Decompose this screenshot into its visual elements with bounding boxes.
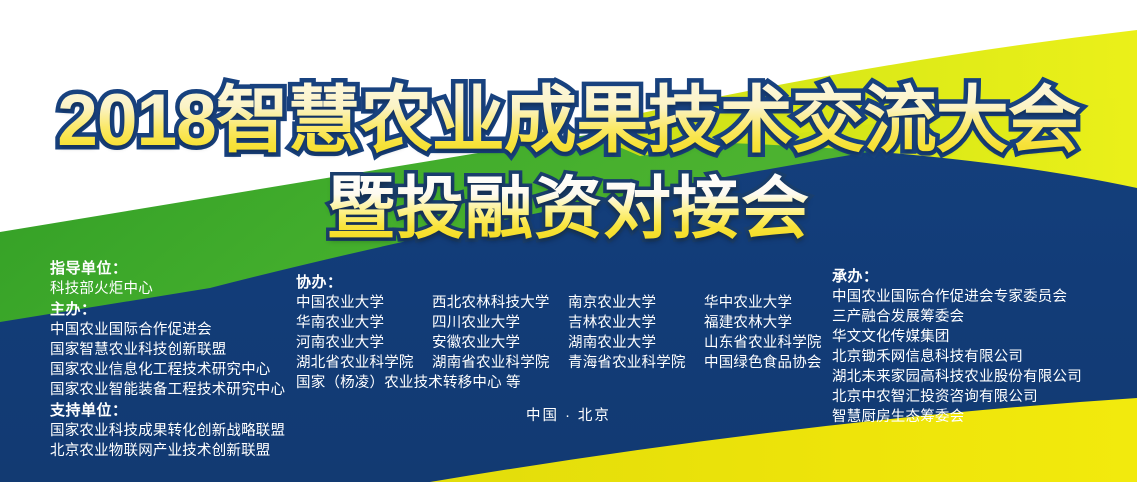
organizer-item: 湖北未来家园高科技农业股份有限公司 bbox=[832, 367, 1132, 387]
coorganizer-item: 湖南农业大学 bbox=[568, 333, 704, 353]
coorganizer-item: 南京农业大学 bbox=[568, 293, 704, 313]
coorganizer-item: 四川农业大学 bbox=[432, 313, 568, 333]
coorganizer-item: 华中农业大学 bbox=[704, 293, 840, 313]
organizer-heading: 承办： bbox=[832, 266, 1132, 287]
coorganizer-heading: 协办： bbox=[296, 272, 816, 293]
coorganizer-item: 福建农林大学 bbox=[704, 313, 840, 333]
coorganizer-item: 安徽农业大学 bbox=[432, 333, 568, 353]
credits-column-coorganizer: 协办： 中国农业大学 西北农林科技大学 南京农业大学 华中农业大学 华南农业大学… bbox=[296, 272, 816, 393]
organizer-item: 三产融合发展筹委会 bbox=[832, 307, 1132, 327]
coorganizer-item: 华南农业大学 bbox=[296, 313, 432, 333]
coorganizer-item: 青海省农业科学院 bbox=[568, 353, 704, 373]
sub-title: 暨投融资对接会 bbox=[0, 172, 1137, 246]
coorganizer-item: 国家（杨凌）农业技术转移中心 等 bbox=[296, 373, 816, 393]
organizer-item: 中国农业国际合作促进会专家委员会 bbox=[832, 287, 1132, 307]
coorganizer-item: 中国农业大学 bbox=[296, 293, 432, 313]
coorganizer-item: 山东省农业科学院 bbox=[704, 333, 840, 353]
credits-column-organizer: 承办： 中国农业国际合作促进会专家委员会 三产融合发展筹委会 华文文化传媒集团 … bbox=[832, 266, 1132, 427]
coorganizer-item: 中国绿色食品协会 bbox=[704, 353, 840, 373]
support-item: 北京农业物联网产业技术创新联盟 bbox=[50, 441, 350, 461]
coorganizer-item: 湖北省农业科学院 bbox=[296, 353, 432, 373]
coorganizer-item: 西北农林科技大学 bbox=[432, 293, 568, 313]
coorganizer-item: 河南农业大学 bbox=[296, 333, 432, 353]
coorganizer-item: 湖南省农业科学院 bbox=[432, 353, 568, 373]
coorganizer-item: 吉林农业大学 bbox=[568, 313, 704, 333]
venue-label: 中国 · 北京 bbox=[0, 404, 1137, 425]
event-banner: 2018智慧农业成果技术交流大会 2018智慧农业成果技术交流大会 暨投融资对接… bbox=[0, 0, 1137, 482]
coorganizer-grid: 中国农业大学 西北农林科技大学 南京农业大学 华中农业大学 华南农业大学 四川农… bbox=[296, 293, 816, 373]
main-title: 2018智慧农业成果技术交流大会 bbox=[0, 82, 1137, 160]
organizer-item: 北京锄禾网信息科技有限公司 bbox=[832, 347, 1132, 367]
organizer-item: 华文文化传媒集团 bbox=[832, 327, 1132, 347]
